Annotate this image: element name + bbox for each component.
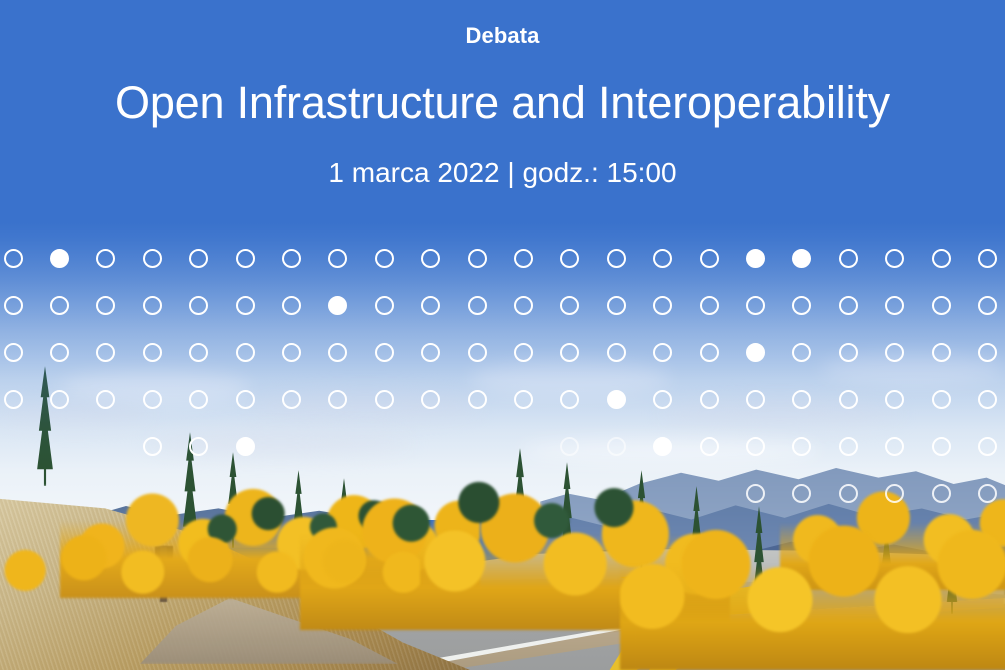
event-title: Open Infrastructure and Interoperability: [0, 48, 1005, 128]
banner-header: Debata Open Infrastructure and Interoper…: [0, 0, 1005, 188]
aspen-band-left: [0, 520, 420, 610]
event-banner: Debata Open Infrastructure and Interoper…: [0, 0, 1005, 670]
event-kicker: Debata: [0, 0, 1005, 48]
aspen-grove-right: [620, 510, 1005, 670]
event-datetime: 1 marca 2022 | godz.: 15:00: [0, 128, 1005, 189]
